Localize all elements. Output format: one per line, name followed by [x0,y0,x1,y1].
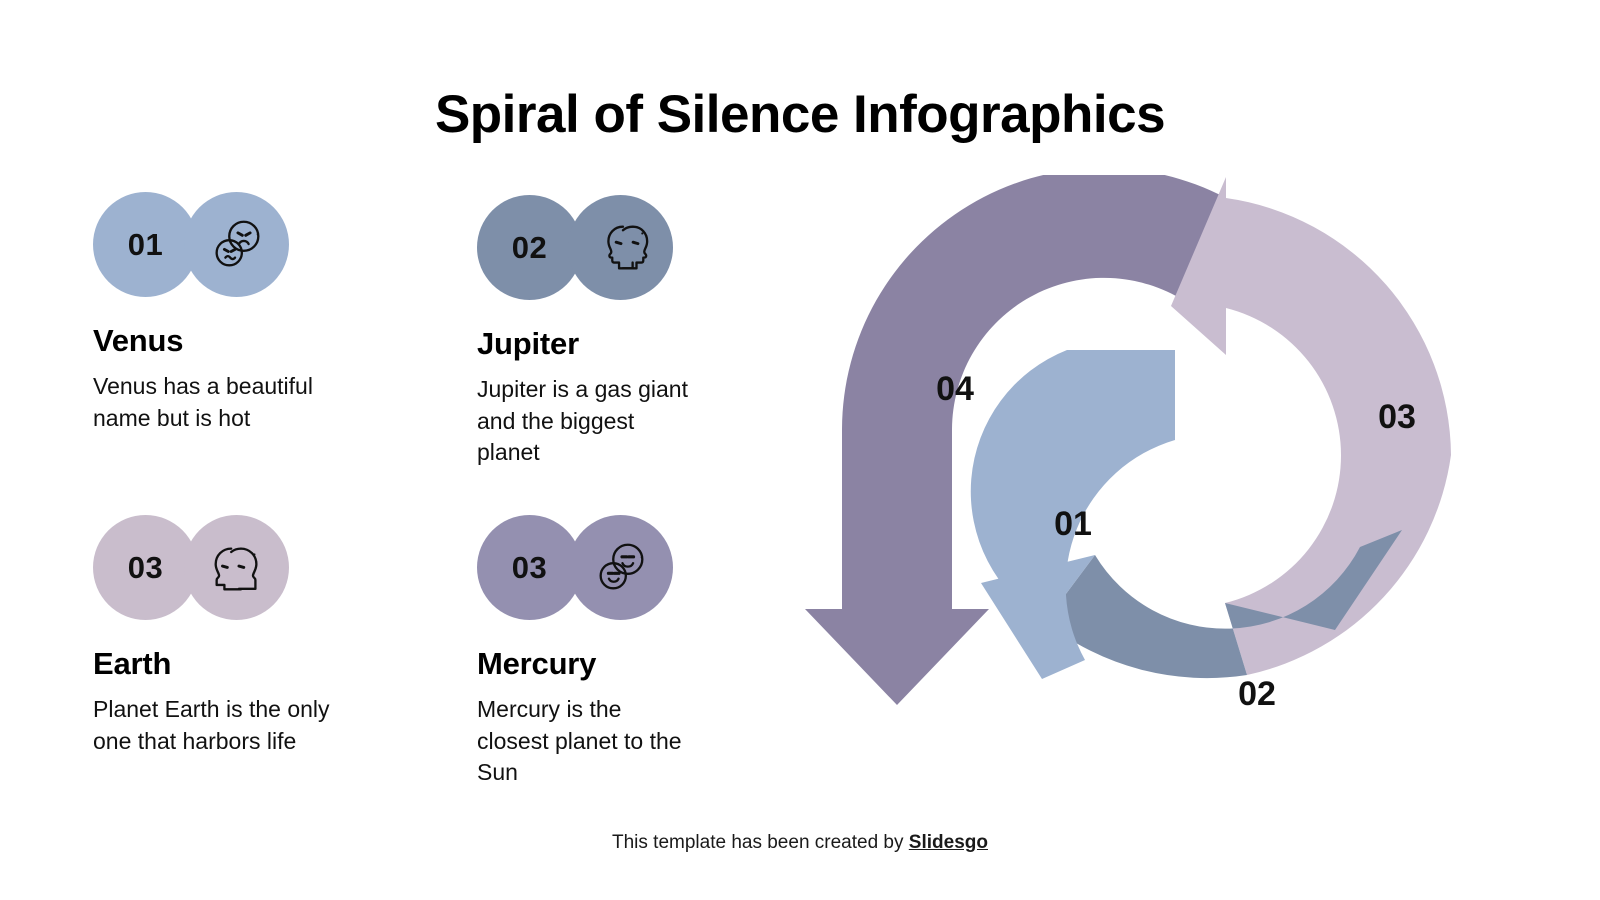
two-head-profiles-icon [590,217,652,279]
two-sad-faces-icon [206,214,268,276]
circle-pair: 02 [477,195,707,300]
icon-circle [184,192,289,297]
footer-prefix: This template has been created by [612,832,909,853]
info-block-earth: 03 Earth Planet Earth is the only one th… [93,515,493,757]
block-number: 03 [128,550,163,586]
block-description: Venus has a beautiful name but is hot [93,371,323,434]
block-description: Planet Earth is the only one that harbor… [93,694,333,757]
number-circle: 03 [477,515,582,620]
spiral-label-01: 01 [1054,505,1092,543]
spiral-label-03: 03 [1378,398,1416,436]
circle-pair: 01 [93,192,323,297]
spiral-label-04: 04 [936,370,974,408]
spiral-arrows-svg: 04 03 02 01 [795,175,1505,805]
footer-credit: This template has been created by Slides… [0,832,1600,854]
block-description: Mercury is the closest planet to the Sun [477,694,692,789]
block-title: Venus [93,323,493,359]
icon-circle [184,515,289,620]
block-number: 02 [512,230,547,266]
block-number: 03 [512,550,547,586]
block-description: Jupiter is a gas giant and the biggest p… [477,374,692,469]
two-head-profiles-icon [206,537,268,599]
block-title: Earth [93,646,493,682]
circle-pair: 03 [477,515,707,620]
number-circle: 02 [477,195,582,300]
spiral-label-02: 02 [1238,675,1276,713]
icon-circle [568,195,673,300]
two-happy-faces-icon [590,537,652,599]
icon-circle [568,515,673,620]
spiral-diagram: 04 03 02 01 [795,175,1505,805]
number-circle: 01 [93,192,198,297]
slidesgo-link[interactable]: Slidesgo [909,832,988,853]
slide: Spiral of Silence Infographics 01 [0,0,1600,900]
spiral-segment-03: 03 [1171,177,1451,675]
page-title: Spiral of Silence Infographics [0,84,1600,145]
circle-pair: 03 [93,515,323,620]
block-number: 01 [128,227,163,263]
number-circle: 03 [93,515,198,620]
info-block-venus: 01 Venus [93,192,493,434]
